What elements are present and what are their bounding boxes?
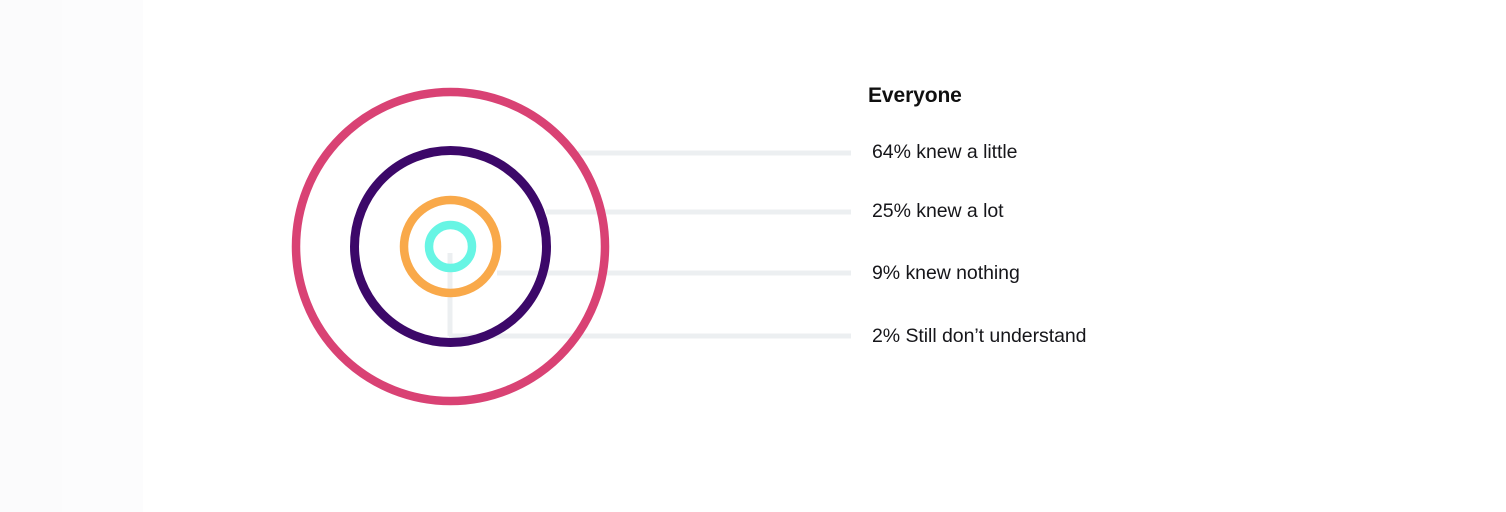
legend: Everyone 64% knew a little 25% knew a lo… xyxy=(868,0,1488,512)
legend-item-9: 9% knew nothing xyxy=(872,262,1020,285)
legend-item-2: 2% Still don’t understand xyxy=(872,325,1086,348)
legend-item-25: 25% knew a lot xyxy=(872,200,1004,223)
legend-title: Everyone xyxy=(868,84,962,108)
infographic-canvas: Everyone 64% knew a little 25% knew a lo… xyxy=(0,0,1506,512)
ring-64-knew-a-little xyxy=(296,92,605,401)
legend-item-64: 64% knew a little xyxy=(872,141,1017,164)
connector-lines xyxy=(449,153,851,336)
